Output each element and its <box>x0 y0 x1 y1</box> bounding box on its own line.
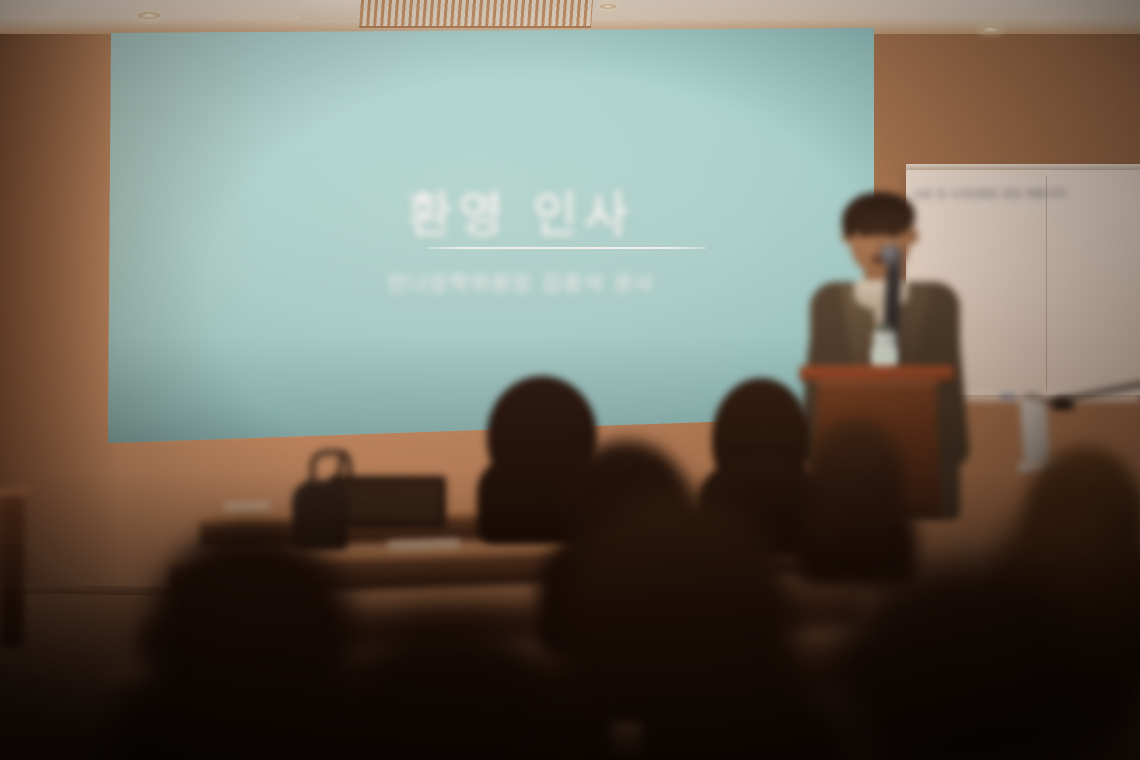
monitor-screen <box>336 482 440 520</box>
speaker-eye-right <box>889 233 900 237</box>
paper-on-desk <box>388 539 460 552</box>
lectern-left-knob <box>2 595 14 607</box>
whiteboard-marker-icon <box>1000 395 1016 398</box>
downlight-icon <box>600 4 616 9</box>
audience-head <box>560 492 798 760</box>
slide-subtitle: 만나장학위원장 김중석 권사 <box>108 268 874 298</box>
microphone-head-icon <box>880 244 902 266</box>
laptop-screen <box>1020 399 1050 466</box>
whiteboard-seam <box>1046 176 1047 392</box>
lectern-top-surface <box>800 366 954 381</box>
ceiling-panel <box>299 0 361 20</box>
slide-divider <box>426 247 706 249</box>
mic-boom-base <box>1052 398 1074 410</box>
bright-object-foreground <box>612 722 642 756</box>
photo-scene: 환영 인사 만나장학위원장 김중석 권사 오후 꼭 수리이후로 반납 바랍니다! <box>0 0 1140 760</box>
bottle-label <box>873 348 896 366</box>
downlight-icon <box>980 26 1002 33</box>
ceiling-vent-icon <box>359 0 593 28</box>
audience-head <box>146 526 356 756</box>
audience-head <box>712 378 810 498</box>
paper-on-desk <box>224 502 270 512</box>
speaker-ear-right <box>908 228 918 244</box>
whiteboard-marker-icon <box>1024 395 1040 398</box>
lectern-left-body <box>0 497 24 647</box>
audience-head <box>808 420 904 532</box>
speaker-hair <box>845 192 915 236</box>
slide-title: 환영 인사 <box>108 176 874 247</box>
lectern-edge-highlight <box>813 380 941 384</box>
downlight-icon <box>138 12 160 19</box>
speaker-eye-left <box>860 233 871 237</box>
